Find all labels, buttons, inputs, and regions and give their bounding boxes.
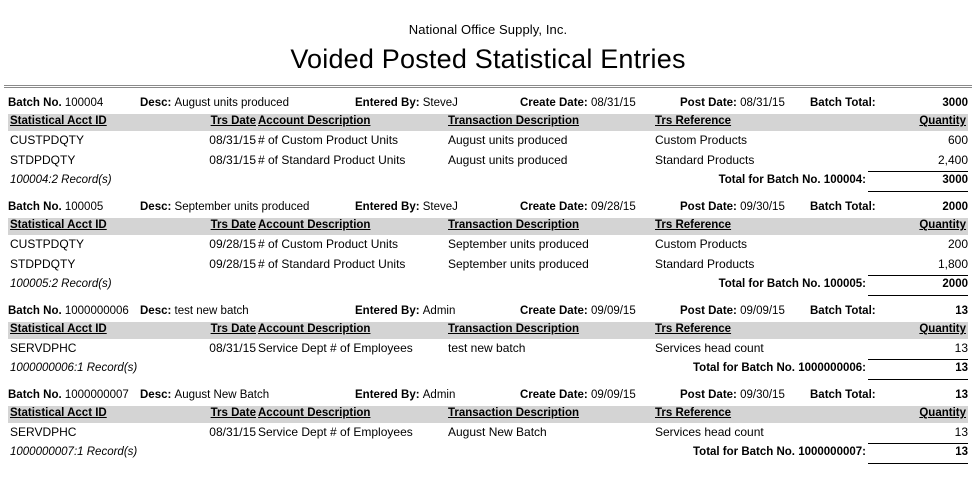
column-header-row: Statistical Acct IDTrs DateAccount Descr… <box>8 322 968 339</box>
batch-entered-by-value: Admin <box>423 305 456 317</box>
batch-number-value: 100004 <box>65 97 103 109</box>
batch-meta-row: Batch No. 100005Desc: September units pr… <box>0 199 976 217</box>
batch-desc: Desc: test new batch <box>140 305 249 317</box>
cell-quantity: 200 <box>948 237 968 251</box>
column-header-transaction-description[interactable]: Transaction Description <box>448 407 579 419</box>
batch-post-date-label: Post Date: <box>680 201 737 213</box>
cell-quantity: 13 <box>955 425 968 439</box>
column-header-transaction-description[interactable]: Transaction Description <box>448 219 579 231</box>
batch-create-date-value: 08/31/15 <box>591 97 636 109</box>
column-header-quantity[interactable]: Quantity <box>919 323 966 335</box>
column-header-account-description[interactable]: Account Description <box>258 115 370 127</box>
batch-post-date-label: Post Date: <box>680 97 737 109</box>
batch-number-label: Batch No. <box>8 305 62 317</box>
column-header-trs-reference[interactable]: Trs Reference <box>655 115 731 127</box>
batch-number: Batch No. 100004 <box>8 97 103 109</box>
batch-meta-row: Batch No. 1000000007Desc: August New Bat… <box>0 387 976 405</box>
batch-total-label: Batch Total: <box>810 305 876 317</box>
batch-desc-value: September units produced <box>175 201 310 213</box>
column-header-row: Statistical Acct IDTrs DateAccount Descr… <box>8 218 968 235</box>
column-header-acct-id[interactable]: Statistical Acct ID <box>10 323 107 335</box>
batch-number-label: Batch No. <box>8 389 62 401</box>
batch-total-row-label: Total for Batch No. 1000000007: <box>693 446 866 458</box>
column-header-account-description[interactable]: Account Description <box>258 323 370 335</box>
batch-meta-row: Batch No. 1000000006Desc: test new batch… <box>0 303 976 321</box>
batch-desc-value: August units produced <box>175 97 289 109</box>
batch-total-label: Batch Total: <box>810 389 876 401</box>
table-row: CUSTPDQTY09/28/15# of Custom Product Uni… <box>0 235 976 255</box>
batch-create-date: Create Date: 09/09/15 <box>520 389 636 401</box>
title-divider <box>4 85 972 88</box>
batch-meta-row: Batch No. 100004Desc: August units produ… <box>0 95 976 113</box>
record-count: 1000000006:1 Record(s) <box>10 362 137 374</box>
batch-post-date-value: 09/30/15 <box>740 389 785 401</box>
report-title: Voided Posted Statistical Entries <box>0 42 976 76</box>
column-header-trs-reference[interactable]: Trs Reference <box>655 407 731 419</box>
cell-acct-id: SERVDPHC <box>10 425 76 439</box>
batch-entered-by-label: Entered By: <box>355 201 420 213</box>
batch-post-date: Post Date: 09/30/15 <box>680 201 785 213</box>
company-name: National Office Supply, Inc. <box>0 22 976 38</box>
cell-account-description: # of Standard Product Units <box>258 257 405 271</box>
batch-entered-by-value: Admin <box>423 389 456 401</box>
batch-post-date-label: Post Date: <box>680 389 737 401</box>
batch-block: Batch No. 1000000006Desc: test new batch… <box>0 303 976 380</box>
batch-number-value: 1000000006 <box>65 305 129 317</box>
column-header-trs-date[interactable]: Trs Date <box>202 323 256 335</box>
batch-total-row-label: Total for Batch No. 100005: <box>719 278 866 290</box>
batch-post-date: Post Date: 09/30/15 <box>680 389 785 401</box>
batch-entered-by: Entered By: SteveJ <box>355 201 458 213</box>
batch-post-date-value: 09/09/15 <box>740 305 785 317</box>
batch-create-date: Create Date: 09/09/15 <box>520 305 636 317</box>
cell-account-description: Service Dept # of Employees <box>258 341 413 355</box>
batch-footer-row: 100004:2 Record(s)Total for Batch No. 10… <box>0 171 976 192</box>
cell-quantity: 13 <box>955 341 968 355</box>
cell-account-description: # of Custom Product Units <box>258 133 398 147</box>
table-row: STDPDQTY08/31/15# of Standard Product Un… <box>0 151 976 171</box>
batch-total-value: 13 <box>955 305 968 317</box>
batch-desc: Desc: September units produced <box>140 201 309 213</box>
column-header-acct-id[interactable]: Statistical Acct ID <box>10 407 107 419</box>
column-header-row: Statistical Acct IDTrs DateAccount Descr… <box>8 406 968 423</box>
batch-block: Batch No. 100004Desc: August units produ… <box>0 95 976 192</box>
batch-entered-by: Entered By: Admin <box>355 305 455 317</box>
cell-account-description: # of Custom Product Units <box>258 237 398 251</box>
column-header-transaction-description[interactable]: Transaction Description <box>448 323 579 335</box>
column-header-trs-reference[interactable]: Trs Reference <box>655 219 731 231</box>
column-header-quantity[interactable]: Quantity <box>919 407 966 419</box>
total-rule-top <box>868 359 968 360</box>
cell-trs-date: 08/31/15 <box>202 425 256 439</box>
batch-number: Batch No. 1000000006 <box>8 305 129 317</box>
column-header-row: Statistical Acct IDTrs DateAccount Descr… <box>8 114 968 131</box>
column-header-quantity[interactable]: Quantity <box>919 115 966 127</box>
cell-transaction-description: test new batch <box>448 341 525 355</box>
batch-footer-row: 1000000006:1 Record(s)Total for Batch No… <box>0 359 976 380</box>
total-rule-bottom <box>868 295 968 296</box>
batch-total-row-label: Total for Batch No. 1000000006: <box>693 362 866 374</box>
column-header-trs-reference[interactable]: Trs Reference <box>655 323 731 335</box>
batch-create-date-value: 09/09/15 <box>591 389 636 401</box>
batch-total-row-value: 2000 <box>942 278 968 290</box>
batch-entered-by-label: Entered By: <box>355 305 420 317</box>
cell-trs-reference: Standard Products <box>655 257 754 271</box>
batch-desc: Desc: August New Batch <box>140 389 269 401</box>
cell-trs-date: 09/28/15 <box>202 237 256 251</box>
batch-number-label: Batch No. <box>8 201 62 213</box>
record-count: 100004:2 Record(s) <box>10 174 112 186</box>
cell-trs-reference: Services head count <box>655 341 764 355</box>
batch-create-date-label: Create Date: <box>520 389 588 401</box>
column-header-acct-id[interactable]: Statistical Acct ID <box>10 219 107 231</box>
cell-trs-date: 09/28/15 <box>202 257 256 271</box>
batch-desc-label: Desc: <box>140 201 171 213</box>
batch-total-label: Batch Total: <box>810 201 876 213</box>
batch-post-date-value: 09/30/15 <box>740 201 785 213</box>
batch-post-date: Post Date: 09/09/15 <box>680 305 785 317</box>
table-row: SERVDPHC08/31/15Service Dept # of Employ… <box>0 339 976 359</box>
batch-desc: Desc: August units produced <box>140 97 289 109</box>
table-row: SERVDPHC08/31/15Service Dept # of Employ… <box>0 423 976 443</box>
batches-container: Batch No. 100004Desc: August units produ… <box>0 95 976 464</box>
cell-transaction-description: August units produced <box>448 133 567 147</box>
batch-block: Batch No. 1000000007Desc: August New Bat… <box>0 387 976 464</box>
batch-post-date: Post Date: 08/31/15 <box>680 97 785 109</box>
record-count: 1000000007:1 Record(s) <box>10 446 137 458</box>
batch-entered-by-label: Entered By: <box>355 389 420 401</box>
total-rule-bottom <box>868 191 968 192</box>
record-count: 100005:2 Record(s) <box>10 278 112 290</box>
batch-create-date: Create Date: 09/28/15 <box>520 201 636 213</box>
batch-number: Batch No. 100005 <box>8 201 103 213</box>
batch-entered-by: Entered By: SteveJ <box>355 97 458 109</box>
batch-create-date-label: Create Date: <box>520 97 588 109</box>
batch-desc-value: test new batch <box>175 305 249 317</box>
cell-acct-id: STDPDQTY <box>10 153 75 167</box>
table-row: STDPDQTY09/28/15# of Standard Product Un… <box>0 255 976 275</box>
batch-desc-label: Desc: <box>140 97 171 109</box>
cell-transaction-description: September units produced <box>448 237 589 251</box>
batch-entered-by: Entered By: Admin <box>355 389 455 401</box>
cell-trs-date: 08/31/15 <box>202 133 256 147</box>
cell-transaction-description: September units produced <box>448 257 589 271</box>
column-header-trs-date[interactable]: Trs Date <box>202 115 256 127</box>
cell-quantity: 2,400 <box>938 153 968 167</box>
batch-desc-label: Desc: <box>140 389 171 401</box>
batch-total-value: 2000 <box>942 201 968 213</box>
cell-trs-date: 08/31/15 <box>202 153 256 167</box>
cell-trs-reference: Custom Products <box>655 133 747 147</box>
total-rule-top <box>868 443 968 444</box>
table-row: CUSTPDQTY08/31/15# of Custom Product Uni… <box>0 131 976 151</box>
batch-total-value: 3000 <box>942 97 968 109</box>
cell-transaction-description: August units produced <box>448 153 567 167</box>
column-header-transaction-description[interactable]: Transaction Description <box>448 115 579 127</box>
batch-total-value: 13 <box>955 389 968 401</box>
cell-account-description: # of Standard Product Units <box>258 153 405 167</box>
batch-desc-label: Desc: <box>140 305 171 317</box>
column-header-account-description[interactable]: Account Description <box>258 407 370 419</box>
batch-create-date-label: Create Date: <box>520 201 588 213</box>
cell-trs-reference: Custom Products <box>655 237 747 251</box>
batch-footer-row: 100005:2 Record(s)Total for Batch No. 10… <box>0 275 976 296</box>
batch-post-date-label: Post Date: <box>680 305 737 317</box>
batch-total-row-value: 13 <box>955 362 968 374</box>
batch-footer-row: 1000000007:1 Record(s)Total for Batch No… <box>0 443 976 464</box>
batch-entered-by-label: Entered By: <box>355 97 420 109</box>
batch-number-value: 100005 <box>65 201 103 213</box>
report-page: National Office Supply, Inc. Voided Post… <box>0 0 976 500</box>
batch-total-row-label: Total for Batch No. 100004: <box>719 174 866 186</box>
report-header: National Office Supply, Inc. Voided Post… <box>0 0 976 76</box>
cell-acct-id: CUSTPDQTY <box>10 237 84 251</box>
batch-create-date-label: Create Date: <box>520 305 588 317</box>
column-header-trs-date[interactable]: Trs Date <box>202 219 256 231</box>
total-rule-bottom <box>868 463 968 464</box>
cell-trs-reference: Standard Products <box>655 153 754 167</box>
cell-acct-id: CUSTPDQTY <box>10 133 84 147</box>
batch-entered-by-value: SteveJ <box>423 97 458 109</box>
cell-quantity: 1,800 <box>938 257 968 271</box>
batch-create-date-value: 09/09/15 <box>591 305 636 317</box>
total-rule-top <box>868 275 968 276</box>
batch-number-label: Batch No. <box>8 97 62 109</box>
batch-total-label: Batch Total: <box>810 97 876 109</box>
cell-acct-id: SERVDPHC <box>10 341 76 355</box>
batch-desc-value: August New Batch <box>175 389 270 401</box>
total-rule-bottom <box>868 379 968 380</box>
batch-number-value: 1000000007 <box>65 389 129 401</box>
batch-post-date-value: 08/31/15 <box>740 97 785 109</box>
column-header-acct-id[interactable]: Statistical Acct ID <box>10 115 107 127</box>
batch-create-date: Create Date: 08/31/15 <box>520 97 636 109</box>
cell-trs-date: 08/31/15 <box>202 341 256 355</box>
column-header-trs-date[interactable]: Trs Date <box>202 407 256 419</box>
batch-entered-by-value: SteveJ <box>423 201 458 213</box>
batch-number: Batch No. 1000000007 <box>8 389 129 401</box>
cell-trs-reference: Services head count <box>655 425 764 439</box>
batch-total-row-value: 3000 <box>942 174 968 186</box>
batch-create-date-value: 09/28/15 <box>591 201 636 213</box>
cell-transaction-description: August New Batch <box>448 425 547 439</box>
cell-acct-id: STDPDQTY <box>10 257 75 271</box>
batch-block: Batch No. 100005Desc: September units pr… <box>0 199 976 296</box>
cell-quantity: 600 <box>948 133 968 147</box>
cell-account-description: Service Dept # of Employees <box>258 425 413 439</box>
column-header-account-description[interactable]: Account Description <box>258 219 370 231</box>
batch-total-row-value: 13 <box>955 446 968 458</box>
column-header-quantity[interactable]: Quantity <box>919 219 966 231</box>
total-rule-top <box>868 171 968 172</box>
